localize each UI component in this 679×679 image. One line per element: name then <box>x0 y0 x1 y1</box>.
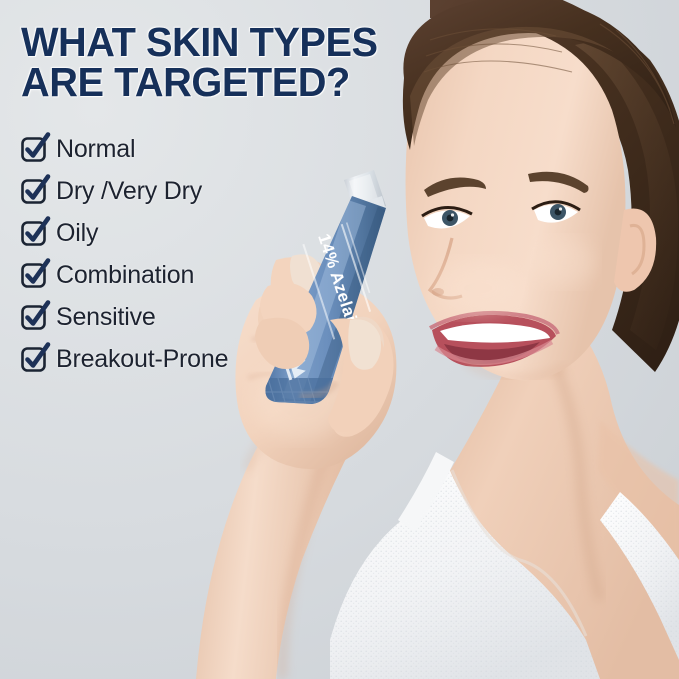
checked-checkbox-icon[interactable] <box>20 179 45 204</box>
list-item-label: Breakout-Prone <box>56 346 228 373</box>
list-item[interactable]: Combination <box>20 254 280 296</box>
checked-checkbox-icon[interactable] <box>20 305 45 330</box>
list-item[interactable]: Dry /Very Dry <box>20 170 280 212</box>
list-item-label: Normal <box>56 136 135 163</box>
checked-checkbox-icon[interactable] <box>20 221 45 246</box>
list-item-label: Dry /Very Dry <box>56 178 202 205</box>
marketing-image-canvas: 14% Azelaic Acid <box>0 0 679 679</box>
list-item-label: Oily <box>56 220 98 247</box>
checked-checkbox-icon[interactable] <box>20 137 45 162</box>
checked-checkbox-icon[interactable] <box>20 347 45 372</box>
list-item[interactable]: Normal <box>20 128 280 170</box>
list-item[interactable]: Breakout-Prone <box>20 338 280 380</box>
list-item[interactable]: Sensitive <box>20 296 280 338</box>
checked-checkbox-icon[interactable] <box>20 263 45 288</box>
list-item[interactable]: Oily <box>20 212 280 254</box>
list-item-label: Combination <box>56 262 194 289</box>
skin-types-checklist: Normal Dry /Very Dry Oily <box>20 128 280 380</box>
list-item-label: Sensitive <box>56 304 156 331</box>
